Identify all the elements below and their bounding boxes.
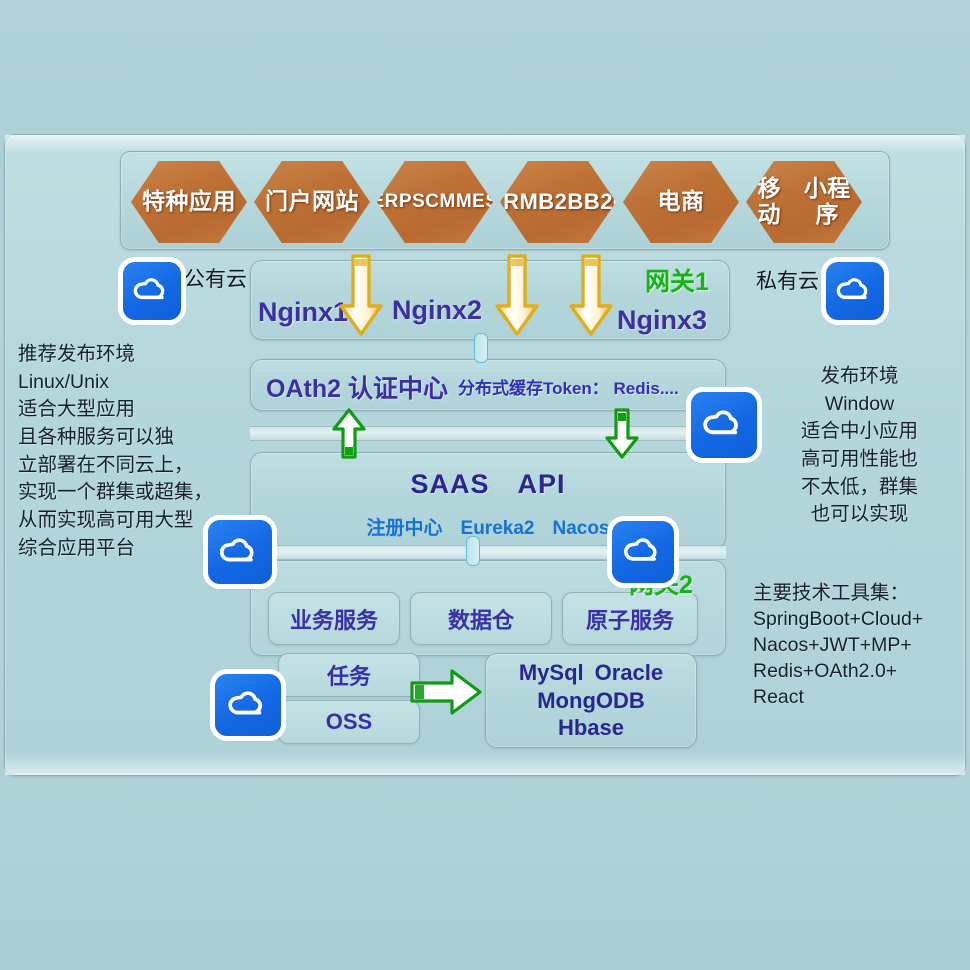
note-left-environment: 推荐发布环境 Linux/Unix 适合大型应用 且各种服务可以独 立部署在不同… — [18, 341, 233, 563]
cloud-icon-auth[interactable] — [691, 392, 757, 458]
nginx3-label[interactable]: Nginx3 — [617, 305, 707, 336]
public-cloud-label: 公有云 — [184, 263, 247, 293]
panel-bottom-sheen — [5, 753, 965, 775]
auth-saas-bus — [250, 426, 726, 441]
db-line-1: MySql Oracle — [519, 659, 663, 687]
app-hex-erp[interactable]: ERPSCMMES — [377, 161, 493, 243]
diagram-canvas: 特种应用 门户网站 ERPSCMMES CRMB2BB2C 电商 移动小程序 N… — [0, 0, 970, 970]
cloud-icon-public[interactable] — [123, 262, 181, 320]
service-task[interactable]: 任务 — [278, 653, 420, 697]
nginx2-label[interactable]: Nginx2 — [392, 295, 482, 326]
flow-arrow-down-2 — [493, 252, 541, 345]
registry-label: 注册中心 — [367, 518, 443, 539]
cloud-icon-storage[interactable] — [215, 674, 281, 736]
db-line-3: Hbase — [558, 714, 624, 742]
oauth2-layer: OAth2 认证中心 分布式缓存Token： Redis.... — [250, 359, 726, 411]
service-warehouse[interactable]: 数据仓 — [410, 592, 552, 645]
app-hex-mobile[interactable]: 移动小程序 — [746, 161, 862, 243]
flow-arrow-down-1 — [337, 252, 385, 345]
nacos-label: Nacos — [552, 518, 609, 539]
note-tech-stack: 主要技术工具集： SpringBoot+Cloud+ Nacos+JWT+MP+… — [753, 581, 968, 711]
flow-arrow-right-green — [408, 663, 484, 726]
token-cache-label: 分布式缓存Token： Redis.... — [458, 374, 679, 399]
app-hex-portal[interactable]: 门户网站 — [254, 161, 370, 243]
cloud-icon-service-right[interactable] — [612, 521, 674, 583]
service-business[interactable]: 业务服务 — [268, 592, 400, 645]
note-right-environment: 发布环境 Window 适合中小应用 高可用性能也 不太低，群集 也可以实现 — [757, 363, 962, 529]
application-layer: 特种应用 门户网站 ERPSCMMES CRMB2BB2C 电商 移动小程序 — [120, 151, 890, 250]
db-line-2: MongODB — [537, 687, 645, 715]
connector-saas-services — [466, 536, 480, 566]
app-hex-crm[interactable]: CRMB2BB2C — [500, 161, 616, 243]
saas-api-title: SAAS API — [251, 469, 725, 500]
service-oss[interactable]: OSS — [278, 700, 420, 744]
flow-arrow-up-green — [331, 407, 367, 466]
private-cloud-label: 私有云 — [756, 265, 819, 295]
flow-arrow-down-3 — [567, 252, 615, 345]
connector-gateway-auth — [474, 333, 488, 363]
database-box: MySql Oracle MongODB Hbase — [485, 653, 697, 748]
app-hex-ecommerce[interactable]: 电商 — [623, 161, 739, 243]
cloud-icon-private[interactable] — [826, 262, 884, 320]
nginx1-label[interactable]: Nginx1 — [258, 297, 348, 328]
gateway1-label: 网关1 — [645, 262, 709, 298]
cloud-icon-service-left[interactable] — [208, 520, 272, 584]
flow-arrow-down-green — [604, 407, 640, 466]
oauth2-title: OAth2 认证中心 — [266, 369, 448, 405]
app-hex-special[interactable]: 特种应用 — [131, 161, 247, 243]
